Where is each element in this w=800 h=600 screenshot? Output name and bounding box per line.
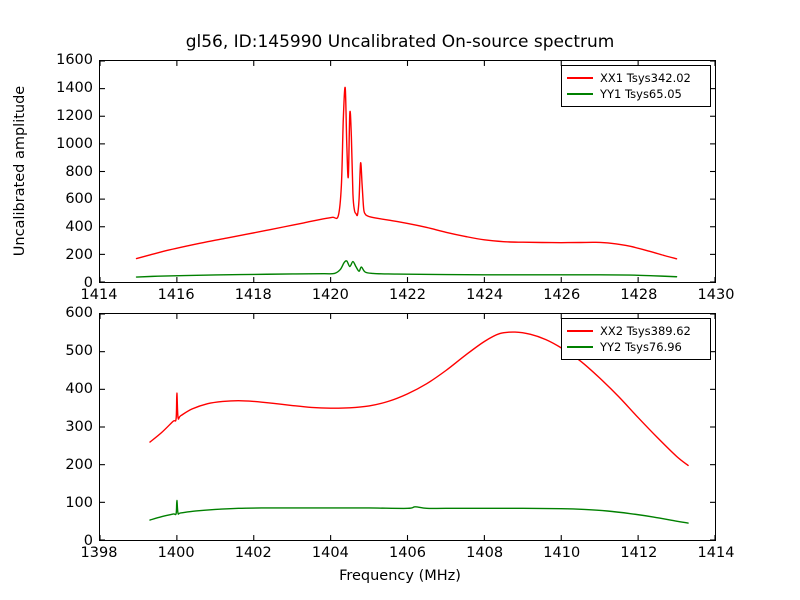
y-tick-label: 400 (65, 219, 93, 235)
y-tick-label: 1000 (56, 136, 93, 152)
x-tick-label: 1416 (158, 287, 195, 303)
series-line (137, 261, 677, 277)
y-tick-label: 400 (65, 381, 93, 397)
x-tick-label: 1402 (235, 545, 272, 561)
x-tick-label: 1418 (235, 287, 272, 303)
legend-line-swatch (567, 346, 593, 348)
y-tick-label: 600 (65, 191, 93, 207)
y-tick-label: 500 (65, 343, 93, 359)
y-tick-label: 1600 (56, 52, 93, 68)
x-tick-label: 1424 (466, 287, 503, 303)
legend-label: XX1 Tsys342.02 (600, 70, 691, 86)
legend-label: YY2 Tsys76.96 (600, 339, 682, 355)
legend-line-swatch (567, 77, 593, 79)
series-line (137, 87, 677, 258)
legend-bottom: XX2 Tsys389.62YY2 Tsys76.96 (561, 318, 711, 360)
x-tick-label: 1408 (466, 545, 503, 561)
x-tick-label: 1410 (543, 545, 580, 561)
x-tick-label: 1400 (158, 545, 195, 561)
y-tick-label: 1200 (56, 108, 93, 124)
x-tick-label: 1430 (698, 287, 735, 303)
y-axis-label-top: Uncalibrated amplitude (12, 86, 28, 256)
x-tick-label: 1422 (389, 287, 426, 303)
x-tick-label: 1420 (312, 287, 349, 303)
y-tick-label: 0 (84, 275, 93, 291)
x-tick-label: 1414 (698, 545, 735, 561)
x-axis-label: Frequency (MHz) (0, 568, 800, 584)
x-tick-label: 1428 (620, 287, 657, 303)
legend-bottom-item: YY2 Tsys76.96 (567, 339, 704, 355)
figure-canvas: gl56, ID:145990 Uncalibrated On-source s… (0, 0, 800, 600)
x-tick-label: 1412 (620, 545, 657, 561)
x-tick-label: 1406 (389, 545, 426, 561)
y-tick-label: 200 (65, 247, 93, 263)
series-line (150, 500, 688, 523)
y-tick-label: 200 (65, 457, 93, 473)
y-tick-label: 300 (65, 419, 93, 435)
x-tick-label: 1404 (312, 545, 349, 561)
y-tick-label: 0 (84, 533, 93, 549)
x-tick-label: 1426 (543, 287, 580, 303)
y-tick-label: 1400 (56, 80, 93, 96)
legend-top-item: YY1 Tsys65.05 (567, 86, 704, 102)
y-tick-label: 600 (65, 305, 93, 321)
legend-line-swatch (567, 93, 593, 95)
y-tick-label: 800 (65, 164, 93, 180)
legend-label: YY1 Tsys65.05 (600, 86, 682, 102)
legend-label: XX2 Tsys389.62 (600, 323, 691, 339)
legend-bottom-item: XX2 Tsys389.62 (567, 323, 704, 339)
y-tick-label: 100 (65, 495, 93, 511)
legend-top: XX1 Tsys342.02YY1 Tsys65.05 (561, 65, 711, 107)
legend-top-item: XX1 Tsys342.02 (567, 70, 704, 86)
page-title: gl56, ID:145990 Uncalibrated On-source s… (0, 32, 800, 52)
legend-line-swatch (567, 330, 593, 332)
